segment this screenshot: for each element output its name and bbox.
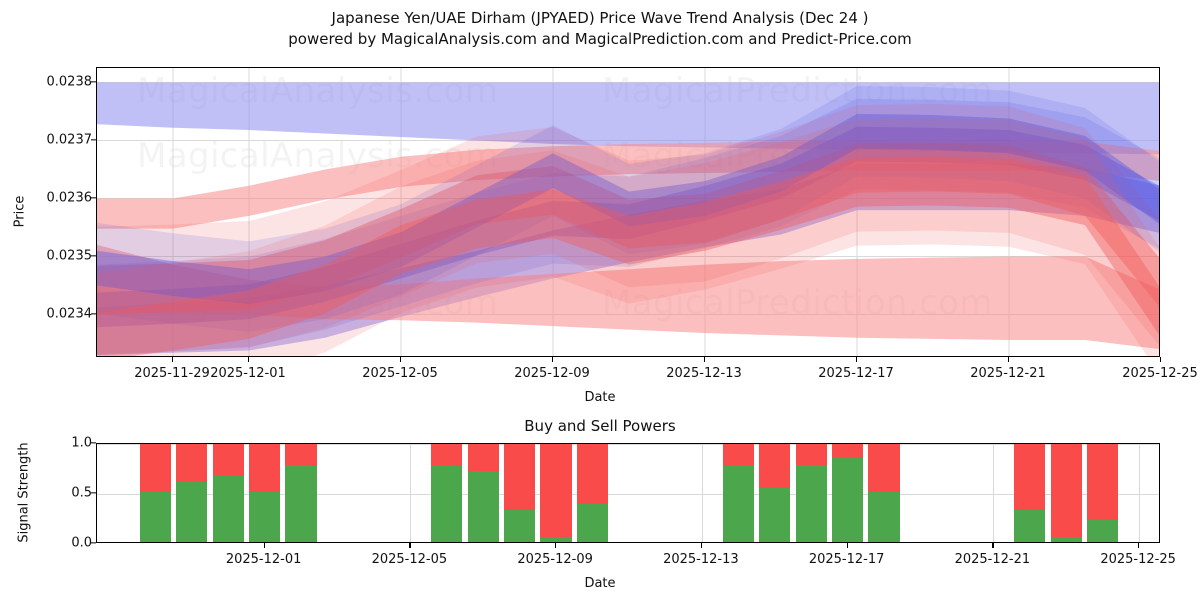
signal-bar[interactable] bbox=[504, 444, 535, 542]
buy-power-segment bbox=[577, 504, 608, 542]
signal-bar[interactable] bbox=[176, 444, 207, 542]
sell-power-segment bbox=[759, 444, 790, 490]
price-x-tick-label: 2025-12-25 bbox=[1122, 366, 1198, 381]
sell-power-segment bbox=[249, 444, 280, 494]
price-y-tick-label: 0.0234 bbox=[47, 306, 93, 321]
price-y-tick-mark bbox=[91, 81, 96, 82]
price-x-tick-mark bbox=[1160, 357, 1161, 362]
price-y-tick-label: 0.0238 bbox=[47, 74, 93, 89]
signal-bar[interactable] bbox=[832, 444, 863, 542]
signal-x-tick-label: 2025-12-21 bbox=[955, 552, 1031, 567]
buy-power-segment bbox=[1014, 510, 1045, 542]
signal-x-tick-label: 2025-12-25 bbox=[1100, 552, 1176, 567]
buy-sell-bars-layer bbox=[97, 444, 1159, 542]
signal-bar[interactable] bbox=[431, 444, 462, 542]
signal-bar[interactable] bbox=[868, 444, 899, 542]
buy-power-segment bbox=[431, 466, 462, 542]
signal-x-tick-mark bbox=[701, 543, 702, 548]
price-y-tick-label: 0.0236 bbox=[47, 190, 93, 205]
sell-power-segment bbox=[213, 444, 244, 478]
signal-y-tick-mark bbox=[91, 542, 96, 543]
signal-bar[interactable] bbox=[285, 444, 316, 542]
buy-power-segment bbox=[759, 488, 790, 542]
buy-power-segment bbox=[832, 458, 863, 542]
price-wave-x-axis-title: Date bbox=[0, 390, 1200, 405]
buy-power-segment bbox=[140, 492, 171, 542]
sell-power-segment bbox=[176, 444, 207, 484]
price-x-tick-mark bbox=[1008, 357, 1009, 362]
sell-power-segment bbox=[140, 444, 171, 494]
price-x-tick-label: 2025-12-21 bbox=[970, 366, 1046, 381]
signal-bar[interactable] bbox=[723, 444, 754, 542]
signal-bar[interactable] bbox=[1087, 444, 1118, 542]
title-line-2: powered by MagicalAnalysis.com and Magic… bbox=[0, 29, 1200, 50]
signal-x-tick-label: 2025-12-13 bbox=[663, 552, 739, 567]
buy-power-segment bbox=[796, 465, 827, 542]
signal-y-tick-mark bbox=[91, 442, 96, 443]
sell-power-segment bbox=[540, 444, 571, 539]
price-x-tick-label: 2025-12-09 bbox=[514, 366, 590, 381]
signal-y-tick-label: 0.5 bbox=[71, 486, 92, 501]
price-x-tick-mark bbox=[248, 357, 249, 362]
signal-x-tick-label: 2025-12-17 bbox=[809, 552, 885, 567]
title-line-1: Japanese Yen/UAE Dirham (JPYAED) Price W… bbox=[0, 8, 1200, 29]
price-y-tick-mark bbox=[91, 255, 96, 256]
signal-bar[interactable] bbox=[249, 444, 280, 542]
buy-power-segment bbox=[285, 465, 316, 542]
sell-power-segment bbox=[1051, 444, 1082, 539]
bars-gridline bbox=[410, 444, 411, 542]
sell-power-segment bbox=[285, 444, 316, 467]
buy-power-segment bbox=[468, 471, 499, 542]
price-x-tick-mark bbox=[552, 357, 553, 362]
price-y-tick-label: 0.0237 bbox=[47, 132, 93, 147]
buy-power-segment bbox=[723, 466, 754, 542]
price-wave-chart: MagicalAnalysis.comMagicalPrediction.com… bbox=[96, 67, 1160, 357]
sell-power-segment bbox=[1087, 444, 1118, 522]
price-y-tick-mark bbox=[91, 197, 96, 198]
sell-power-segment bbox=[468, 444, 499, 473]
bars-gridline bbox=[993, 444, 994, 542]
signal-bar[interactable] bbox=[468, 444, 499, 542]
chart-page: Japanese Yen/UAE Dirham (JPYAED) Price W… bbox=[0, 0, 1200, 600]
buy-power-segment bbox=[213, 476, 244, 542]
price-x-tick-label: 2025-12-13 bbox=[666, 366, 742, 381]
buy-power-segment bbox=[176, 482, 207, 542]
buy-sell-x-axis-title: Date bbox=[0, 576, 1200, 591]
signal-bar[interactable] bbox=[140, 444, 171, 542]
signal-x-tick-mark bbox=[1138, 543, 1139, 548]
buy-power-segment bbox=[1087, 520, 1118, 542]
signal-bar[interactable] bbox=[796, 444, 827, 542]
signal-y-tick-label: 0.0 bbox=[71, 536, 92, 551]
buy-power-segment bbox=[249, 492, 280, 542]
signal-bar[interactable] bbox=[540, 444, 571, 542]
buy-power-segment bbox=[504, 510, 535, 542]
sell-power-segment bbox=[577, 444, 608, 506]
sell-power-segment bbox=[431, 444, 462, 468]
price-x-tick-mark bbox=[172, 357, 173, 362]
signal-bar[interactable] bbox=[1051, 444, 1082, 542]
signal-x-tick-mark bbox=[555, 543, 556, 548]
buy-sell-plot-area bbox=[96, 443, 1160, 543]
sell-power-segment bbox=[723, 444, 754, 468]
signal-x-tick-mark bbox=[847, 543, 848, 548]
signal-bar[interactable] bbox=[759, 444, 790, 542]
price-y-tick-label: 0.0235 bbox=[47, 248, 93, 263]
price-wave-svg bbox=[97, 68, 1160, 357]
bars-gridline bbox=[702, 444, 703, 542]
sell-power-segment bbox=[1014, 444, 1045, 512]
price-x-tick-label: 2025-12-17 bbox=[818, 366, 894, 381]
price-x-tick-mark bbox=[856, 357, 857, 362]
signal-x-tick-label: 2025-12-05 bbox=[372, 552, 448, 567]
price-x-tick-label: 2025-12-05 bbox=[362, 366, 438, 381]
price-x-tick-label: 2025-11-29 bbox=[134, 366, 210, 381]
signal-bar[interactable] bbox=[1014, 444, 1045, 542]
sell-power-segment bbox=[868, 444, 899, 494]
signal-bar[interactable] bbox=[577, 444, 608, 542]
price-y-tick-mark bbox=[91, 139, 96, 140]
price-wave-y-axis-title: Price bbox=[13, 182, 28, 242]
signal-x-tick-mark bbox=[409, 543, 410, 548]
signal-y-tick-label: 1.0 bbox=[71, 436, 92, 451]
buy-sell-powers-chart bbox=[96, 443, 1160, 543]
page-title: Japanese Yen/UAE Dirham (JPYAED) Price W… bbox=[0, 8, 1200, 50]
price-y-tick-mark bbox=[91, 313, 96, 314]
signal-x-tick-label: 2025-12-09 bbox=[517, 552, 593, 567]
buy-sell-y-axis-title: Signal Strength bbox=[17, 433, 32, 553]
buy-power-segment bbox=[540, 537, 571, 542]
price-x-tick-mark bbox=[400, 357, 401, 362]
signal-y-tick-mark bbox=[91, 492, 96, 493]
price-wave-plot-area: MagicalAnalysis.comMagicalPrediction.com… bbox=[96, 67, 1160, 357]
buy-power-segment bbox=[868, 492, 899, 542]
signal-bar[interactable] bbox=[213, 444, 244, 542]
price-x-tick-label: 2025-12-01 bbox=[210, 366, 286, 381]
buy-sell-powers-title: Buy and Sell Powers bbox=[0, 417, 1200, 435]
price-x-tick-mark bbox=[704, 357, 705, 362]
signal-x-tick-label: 2025-12-01 bbox=[226, 552, 302, 567]
signal-x-tick-mark bbox=[264, 543, 265, 548]
signal-x-tick-mark bbox=[992, 543, 993, 548]
sell-power-segment bbox=[504, 444, 535, 512]
bars-gridline bbox=[1139, 444, 1140, 542]
buy-power-segment bbox=[1051, 537, 1082, 542]
sell-power-segment bbox=[796, 444, 827, 467]
